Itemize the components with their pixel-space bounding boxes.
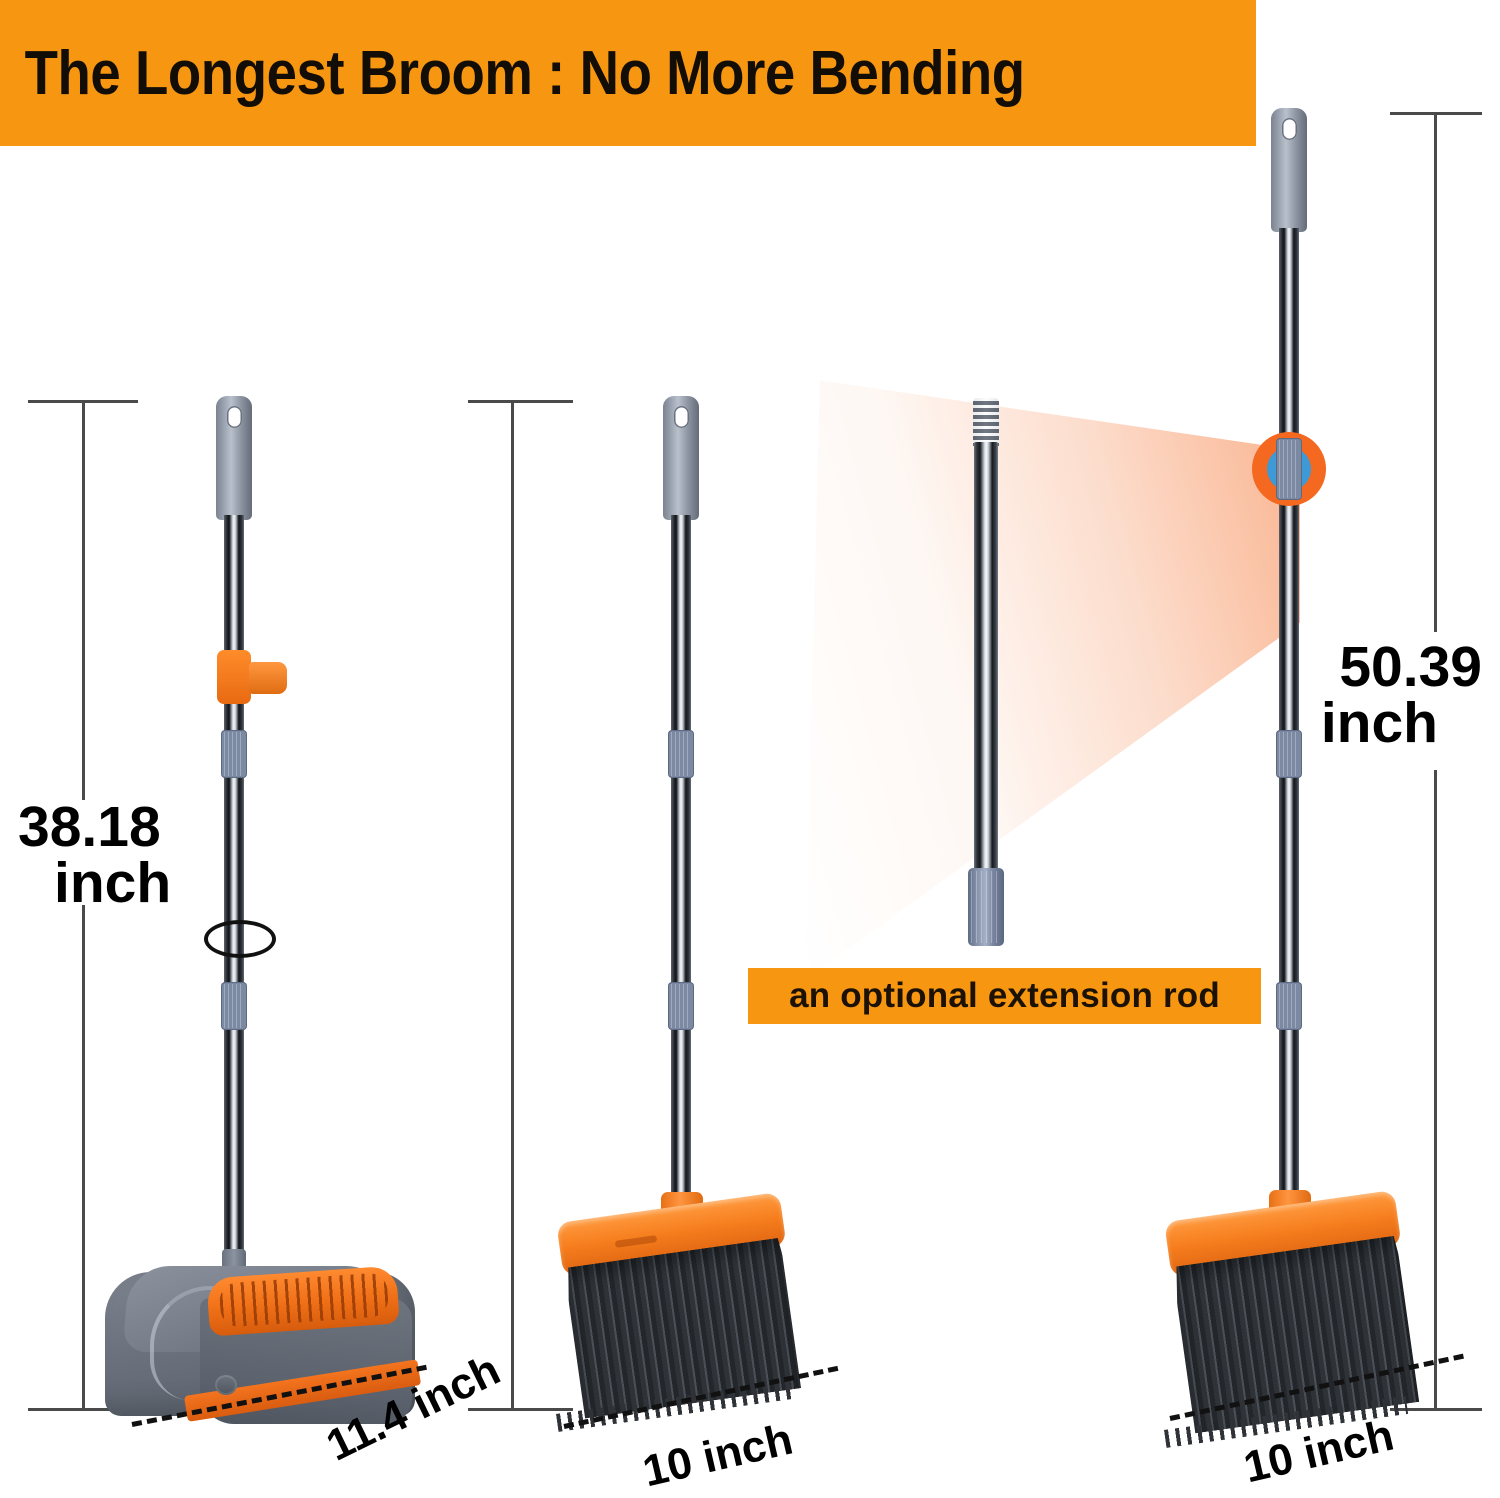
product-extension-rod: [940, 0, 1080, 1498]
product-broom-dustpan-set: 11.4 inch: [0, 0, 520, 1498]
pole-connector-sleeve-upper: [1276, 730, 1302, 778]
pole-connector-sleeve-upper: [221, 730, 247, 778]
pole-joint-connector: [1276, 438, 1302, 500]
rotation-indicator-icon: [204, 920, 276, 958]
handle-hang-hole: [674, 406, 689, 428]
dustpan-clip: [217, 650, 251, 704]
handle-hang-hole: [1282, 118, 1297, 140]
pole-connector-sleeve-lower: [1276, 982, 1302, 1030]
telescopic-pole: [671, 515, 691, 1205]
extension-rod-ribbed-collar: [968, 868, 1004, 946]
pole-connector-sleeve-lower: [221, 982, 247, 1030]
telescopic-pole: [1279, 228, 1299, 1213]
handle-hang-hole: [227, 406, 242, 428]
pole-connector-sleeve-upper: [668, 730, 694, 778]
extension-rod-threaded-top: [973, 398, 999, 446]
dustpan-release-knob: [215, 1375, 237, 1395]
extension-rod-shaft: [974, 442, 998, 875]
broom-width-label: 10 inch: [638, 1415, 797, 1498]
product-broom-extended: 10 inch: [1140, 0, 1500, 1498]
dustpan-clip-arm: [249, 662, 287, 694]
telescopic-pole: [224, 515, 244, 1260]
pole-connector-sleeve-lower: [668, 982, 694, 1030]
dustpan-comb-teeth: [219, 1272, 390, 1328]
infographic-canvas: The Longest Broom : No More Bending 38.1…: [0, 0, 1500, 1498]
